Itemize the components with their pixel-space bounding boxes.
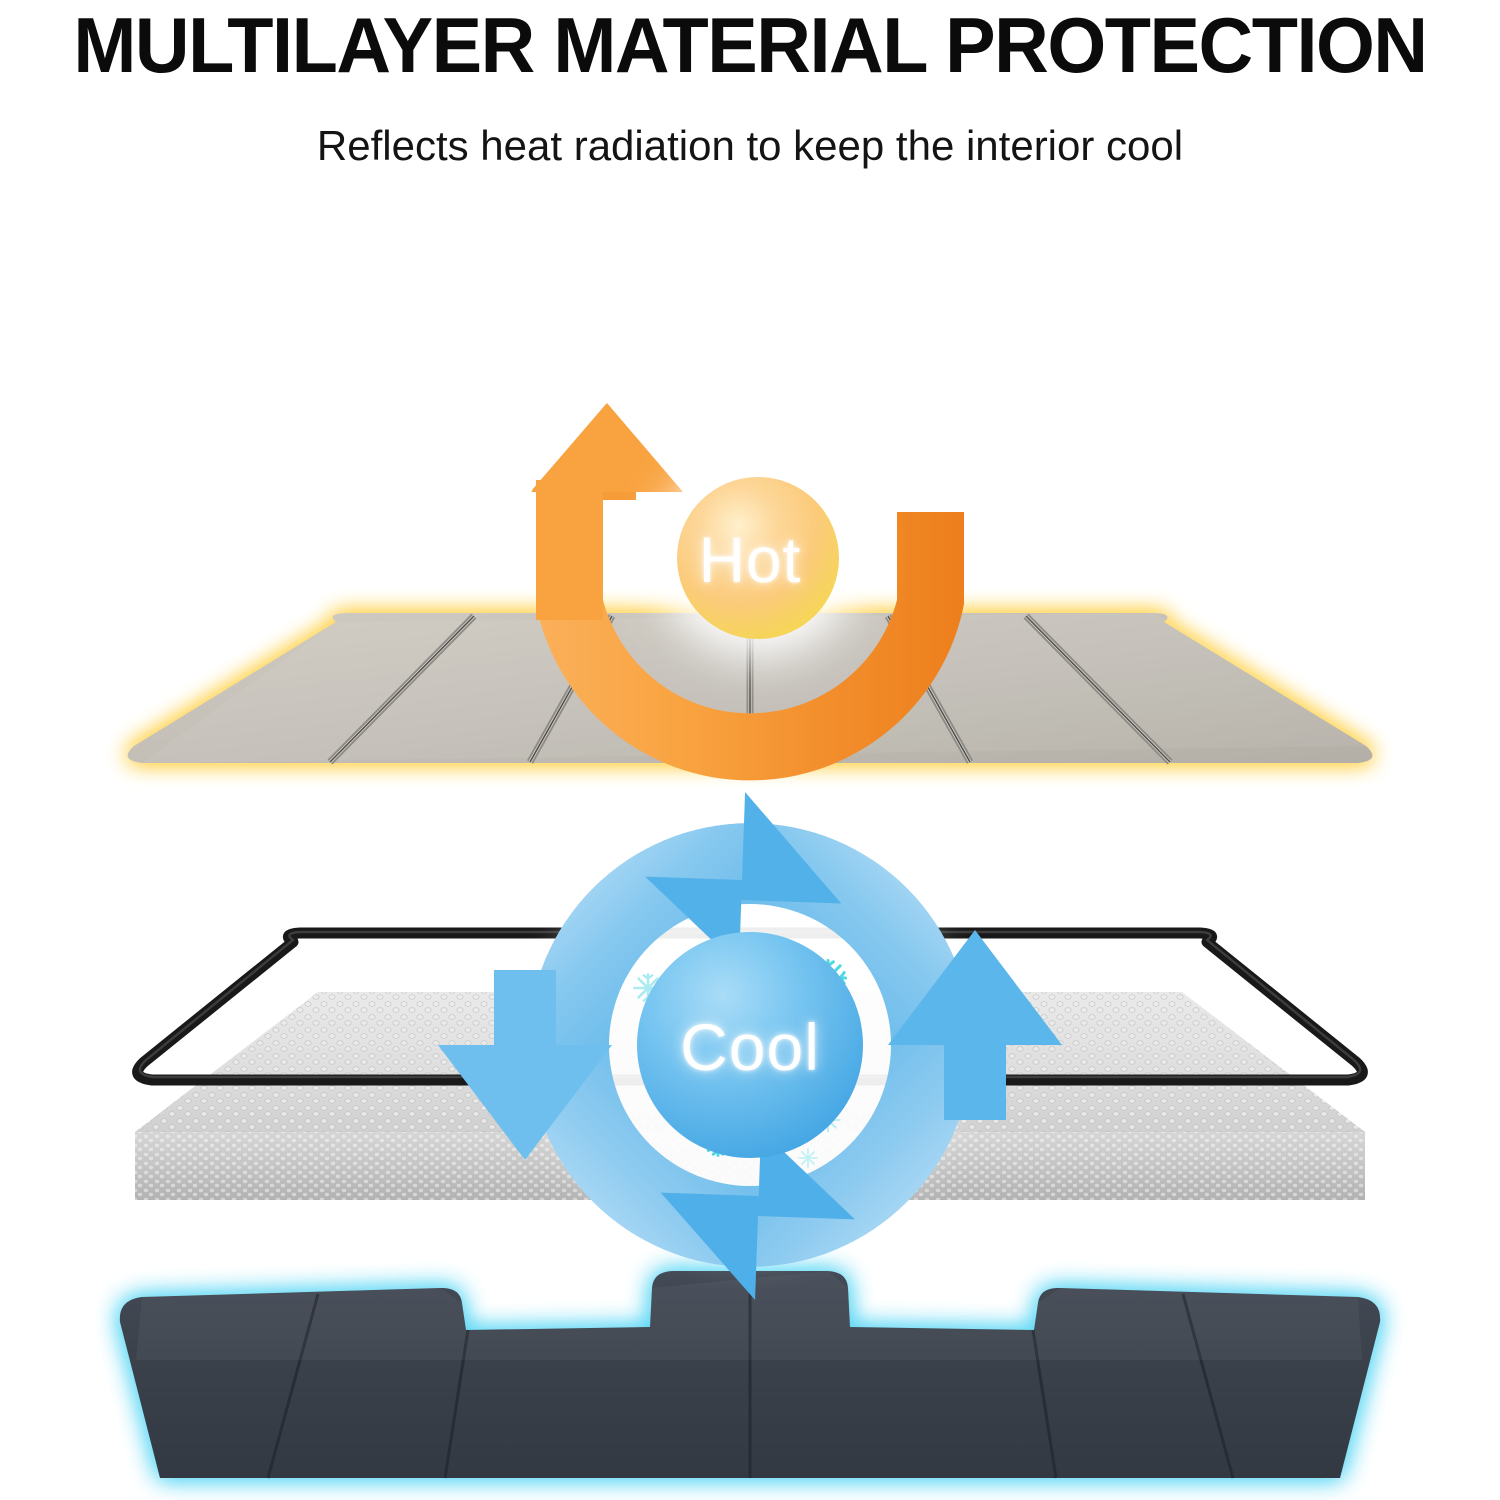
- diagram-svg: [0, 0, 1500, 1500]
- multilayer-diagram: Hot Cool: [0, 0, 1500, 1500]
- hot-sphere: [677, 477, 839, 639]
- infographic-page: MULTILAYER MATERIAL PROTECTION Reflects …: [0, 0, 1500, 1500]
- cool-circulation-arrows: [438, 789, 1062, 1304]
- snowflake-icon: [799, 1149, 817, 1167]
- heat-reflect-arrow-shaft: [536, 480, 603, 620]
- cool-sphere: [637, 932, 863, 1158]
- bottom-fabric-layer: [120, 1271, 1380, 1478]
- heat-reflect-arrowhead-tip: [531, 403, 683, 492]
